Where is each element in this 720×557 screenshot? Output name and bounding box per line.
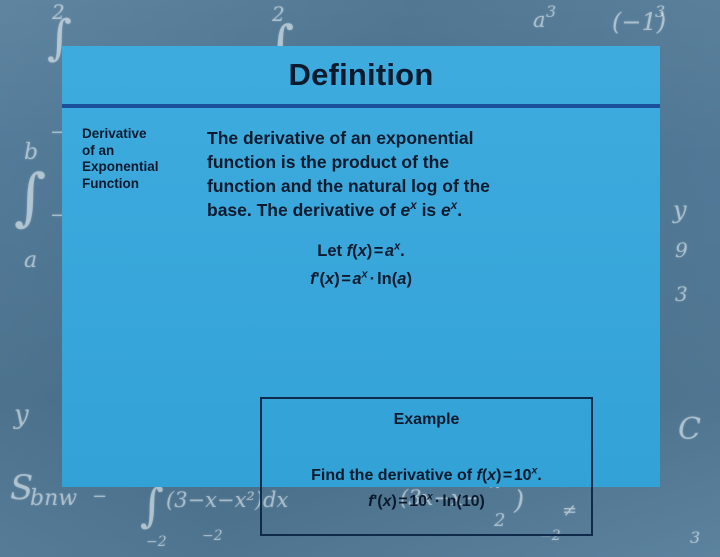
- chalk-mark: ∫: [14, 160, 46, 233]
- example-heading: Example: [262, 411, 591, 429]
- chalk-mark: 2: [52, 0, 65, 24]
- exponent-x: x: [427, 491, 433, 503]
- paren-close: ): [334, 270, 340, 288]
- side-label-line-2: of an: [82, 143, 207, 160]
- chalk-mark: 2: [272, 2, 285, 26]
- base-ten: 10: [514, 467, 532, 484]
- equals-sign: =: [372, 242, 385, 260]
- side-label-column: Derivative of an Exponential Function: [62, 126, 207, 222]
- variable-x: x: [487, 467, 496, 484]
- equals-sign: =: [397, 493, 409, 510]
- euler-e-first: e: [401, 200, 411, 220]
- example-box: Example Find the derivative of f(x)=10x.…: [260, 397, 593, 536]
- definition-line-4: base. The derivative of ex is ex.: [207, 198, 642, 222]
- base-a: a: [352, 270, 361, 288]
- chalk-mark: 3: [690, 528, 700, 547]
- chalk-mark: 3: [675, 282, 688, 306]
- definition-columns: Derivative of an Exponential Function Th…: [62, 108, 660, 222]
- chalk-mark: −: [92, 486, 107, 507]
- chalk-mark: 3: [546, 2, 556, 21]
- period: .: [400, 242, 405, 260]
- chalk-mark: b: [24, 140, 38, 165]
- example-prompt-text: Find the derivative of: [311, 467, 476, 484]
- definition-line-3: function and the natural log of the: [207, 174, 642, 198]
- period: .: [537, 467, 541, 484]
- exponent-x: x: [362, 269, 368, 281]
- example-answer: f'(x)=10x·ln(10): [262, 493, 591, 511]
- chalk-mark: a: [24, 248, 37, 273]
- multiplication-dot: ·: [368, 270, 378, 288]
- chalk-mark: C: [678, 412, 701, 447]
- chalk-mark: a: [533, 8, 546, 32]
- multiplication-dot: ·: [433, 493, 442, 510]
- definition-line-4-text: base. The derivative of: [207, 200, 401, 220]
- side-label-line-3: Exponential: [82, 159, 207, 176]
- natural-log-open: ln(: [442, 493, 462, 510]
- side-label-line-1: Derivative: [82, 126, 207, 143]
- equals-sign: =: [340, 270, 353, 288]
- natural-log-close: ): [406, 270, 412, 288]
- chalk-mark: −2: [202, 528, 223, 544]
- log-argument-ten: 10: [462, 493, 480, 510]
- definition-column: The derivative of an exponential functio…: [207, 126, 660, 222]
- definition-line-1: The derivative of an exponential: [207, 126, 642, 150]
- chalk-mark: −2: [146, 534, 167, 550]
- let-label: Let: [317, 242, 346, 260]
- side-label-line-4: Function: [82, 176, 207, 193]
- natural-log-close: ): [480, 493, 485, 510]
- definition-line-4-end: .: [457, 200, 462, 220]
- body-area: Derivative of an Exponential Function Th…: [62, 108, 660, 289]
- variable-x: x: [383, 493, 392, 510]
- title-bar: Definition: [62, 46, 660, 104]
- chalk-mark: bnw: [30, 486, 77, 511]
- variable-x: x: [358, 242, 367, 260]
- chalk-mark: 3: [655, 2, 665, 21]
- chalk-mark: S: [10, 468, 33, 508]
- chalk-mark: (−1): [612, 8, 666, 36]
- chalk-mark: 9: [675, 238, 688, 262]
- variable-x: x: [325, 270, 334, 288]
- example-prompt: Find the derivative of f(x)=10x.: [262, 467, 591, 485]
- definition-line-4-mid: is: [417, 200, 441, 220]
- base-a: a: [385, 242, 394, 260]
- euler-e-second: e: [441, 200, 451, 220]
- content-panel: Definition Derivative of an Exponential …: [62, 46, 660, 487]
- slide-canvas: 2∫a3(−1)32∫b∫a−−y93CySbnw−∫(3−x−x²)dx−2(…: [0, 0, 720, 557]
- definition-line-2: function is the product of the: [207, 150, 642, 174]
- chalk-mark: y: [14, 400, 29, 430]
- equals-sign: =: [501, 467, 513, 484]
- base-ten: 10: [409, 493, 427, 510]
- page-title: Definition: [289, 57, 434, 93]
- chalk-mark: y: [673, 196, 687, 224]
- formula-let-fx: Let f(x)=ax.: [62, 242, 660, 261]
- natural-log-open: ln(: [377, 270, 397, 288]
- formula-derivative-general: f'(x)=ax·ln(a): [62, 270, 660, 289]
